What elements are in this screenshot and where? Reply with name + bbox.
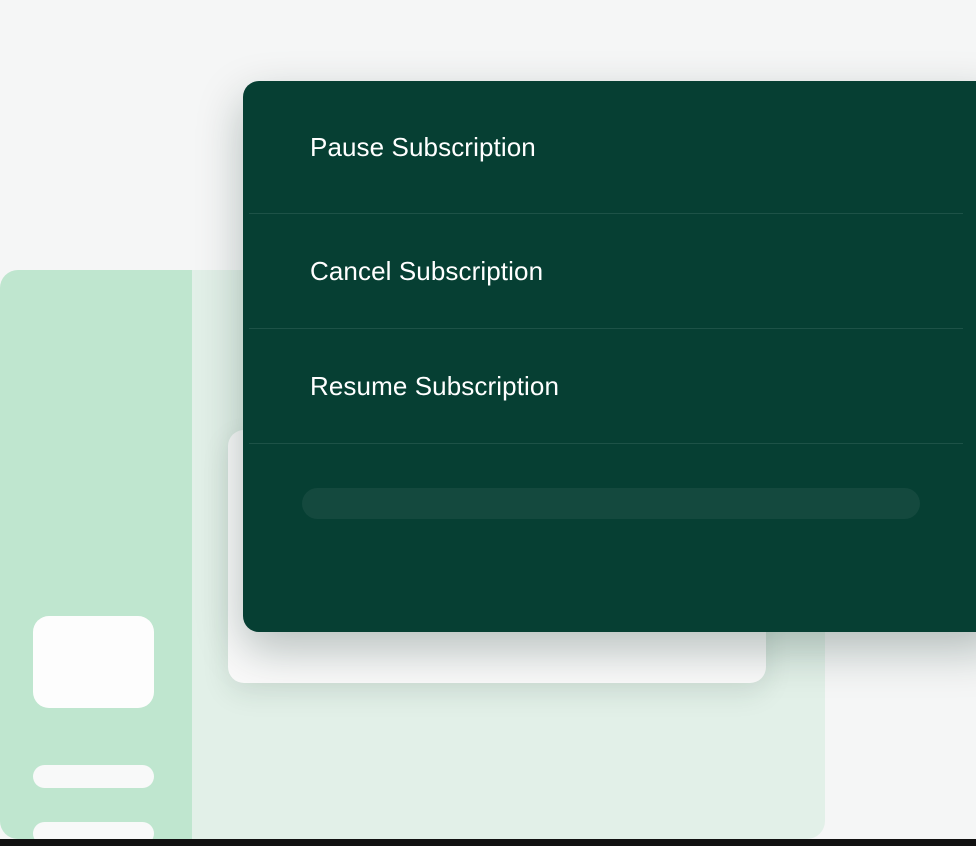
menu-item-resume-subscription[interactable]: Resume Subscription <box>243 329 976 443</box>
menu-item-label: Resume Subscription <box>310 371 559 402</box>
bottom-chrome-bar <box>0 839 976 846</box>
menu-item-label: Pause Subscription <box>310 132 536 163</box>
menu-item-cancel-subscription[interactable]: Cancel Subscription <box>243 214 976 328</box>
menu-item-label: Cancel Subscription <box>310 256 543 287</box>
sidebar-item-placeholder-1[interactable] <box>33 765 154 788</box>
sidebar[interactable] <box>0 270 192 839</box>
sidebar-logo-placeholder <box>33 616 154 708</box>
menu-footer-pill-placeholder[interactable] <box>302 488 920 519</box>
menu-item-pause-subscription[interactable]: Pause Subscription <box>243 81 976 213</box>
menu-footer <box>243 444 976 562</box>
subscription-dropdown-menu[interactable]: Pause Subscription Cancel Subscription R… <box>243 81 976 632</box>
